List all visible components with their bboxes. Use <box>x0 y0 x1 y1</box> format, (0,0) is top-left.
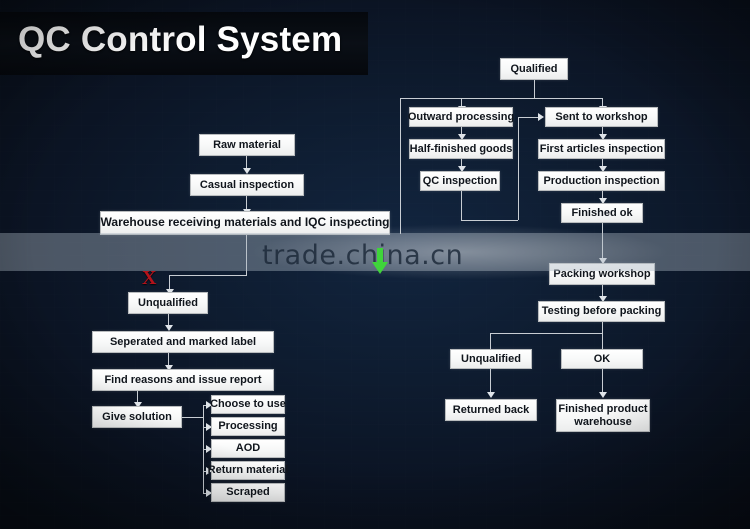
connector-testing-split <box>490 333 603 334</box>
qc-control-system-diagram: QC Control System Raw material Casual in… <box>0 0 750 529</box>
node-half-finished-goods: Half-finished goods <box>409 139 513 159</box>
node-return-material: Return material <box>211 461 285 480</box>
connector-qc-right <box>461 220 518 221</box>
arrow-right-icon <box>538 113 544 121</box>
node-finished-ok: Finished ok <box>561 203 643 223</box>
connector-testing-to-unqualified <box>490 333 491 349</box>
connector-qc-feedback-up <box>518 117 519 220</box>
node-processing: Processing <box>211 417 285 436</box>
connector-testing-to-ok <box>602 333 603 349</box>
connector-casual-to-warehouse <box>246 196 247 210</box>
node-give-solution: Give solution <box>92 406 182 428</box>
node-unqualified-left: Unqualified <box>128 292 208 314</box>
arrow-down-icon <box>487 392 495 398</box>
node-outward-processing: Outward processing <box>409 107 513 127</box>
node-aod: AOD <box>211 439 285 458</box>
node-casual-inspection: Casual inspection <box>190 174 304 196</box>
page-title: QC Control System <box>18 20 342 60</box>
node-ok: OK <box>561 349 643 369</box>
node-qualified: Qualified <box>500 58 568 80</box>
node-find-reasons: Find reasons and issue report <box>92 369 274 391</box>
connector-testing-down <box>602 322 603 333</box>
watermark-text: trade.china.cn <box>262 240 463 271</box>
connector-qc-into-workshop <box>518 117 539 118</box>
node-seperated-marked-label: Seperated and marked label <box>92 331 274 353</box>
node-testing-before-packing: Testing before packing <box>538 301 665 322</box>
node-unqualified-right: Unqualified <box>450 349 532 369</box>
arrow-down-icon <box>599 392 607 398</box>
connector-solution-out <box>182 417 203 418</box>
connector-to-unqualified <box>169 275 170 290</box>
node-returned-back: Returned back <box>445 399 537 421</box>
node-sent-to-workshop: Sent to workshop <box>545 107 658 127</box>
node-production-inspection: Production inspection <box>538 171 665 191</box>
green-down-arrow-icon <box>372 248 388 274</box>
node-warehouse-receiving: Warehouse receiving materials and IQC in… <box>100 211 390 235</box>
node-qc-inspection: QC inspection <box>420 171 500 191</box>
connector-qualified-left-leg <box>400 98 401 234</box>
connector-qualified-split <box>400 98 602 99</box>
reject-x-icon: X <box>142 268 156 288</box>
node-raw-material: Raw material <box>199 134 295 156</box>
node-scraped: Scraped <box>211 483 285 502</box>
connector-qc-down <box>461 191 462 220</box>
node-first-articles-inspection: First articles inspection <box>538 139 665 159</box>
connector-warehouse-left <box>169 275 247 276</box>
node-choose-to-use: Choose to use <box>211 395 285 414</box>
connector-qualified-down <box>534 80 535 98</box>
node-finished-product-warehouse: Finished product warehouse <box>556 399 650 432</box>
